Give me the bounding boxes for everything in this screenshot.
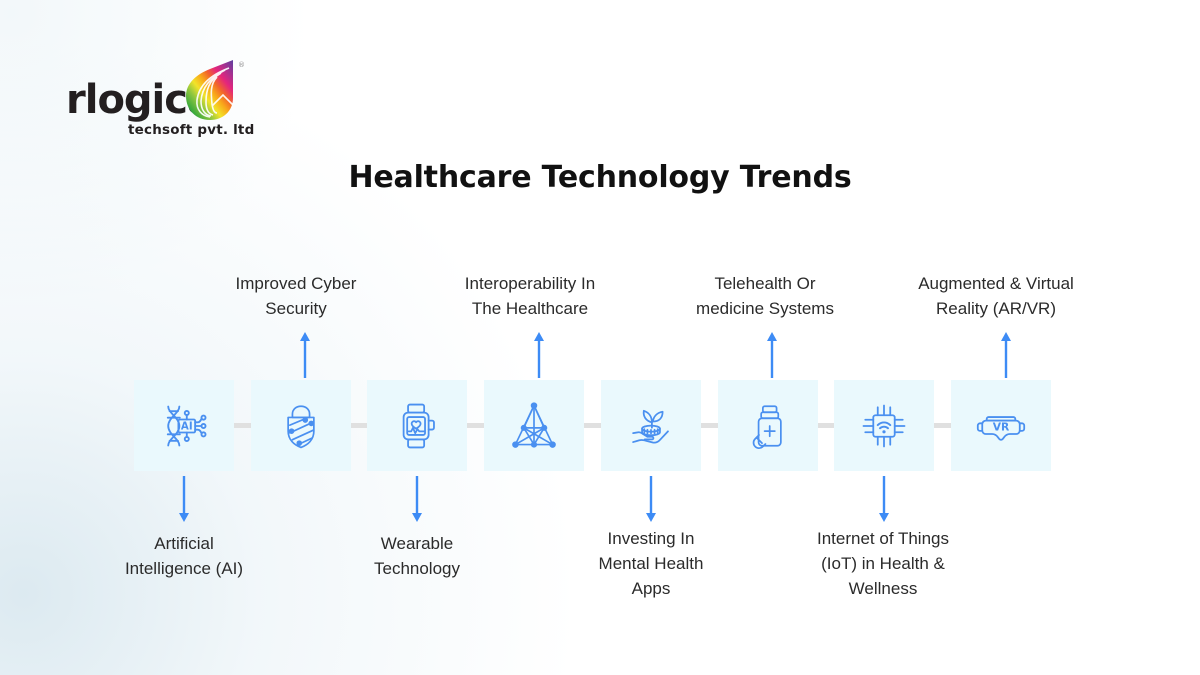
cyber-security-shield-icon — [277, 402, 325, 450]
iot-chip-wifi-icon — [859, 401, 909, 451]
arrow-up-6 — [765, 332, 779, 378]
trend-tile-2[interactable] — [251, 380, 351, 471]
tile-connector-4 — [584, 423, 601, 428]
trend-label-4: Interoperability In The Healthcare — [420, 271, 640, 321]
trend-tile-7[interactable] — [834, 380, 934, 471]
tile-connector-3 — [467, 423, 484, 428]
trend-tile-5[interactable] — [601, 380, 701, 471]
trend-label-5: Investing In Mental Health Apps — [541, 526, 761, 601]
tile-connector-6 — [818, 423, 835, 428]
tile-connector-2 — [351, 423, 368, 428]
trend-timeline-strip: AI — [134, 380, 1045, 471]
arrow-up-8 — [999, 332, 1013, 378]
medicine-bottle-capsule-icon — [744, 402, 792, 450]
trend-tile-8[interactable]: VR — [951, 380, 1051, 471]
trend-label-7: Internet of Things (IoT) in Health & Wel… — [773, 526, 993, 601]
hand-coins-plant-icon — [626, 401, 676, 451]
smartwatch-heartrate-icon — [392, 401, 442, 451]
trend-tile-1[interactable]: AI — [134, 380, 234, 471]
trend-label-8: Augmented & Virtual Reality (AR/VR) — [888, 271, 1104, 321]
svg-text:AI: AI — [181, 421, 193, 432]
network-mesh-nodes-icon — [508, 400, 560, 452]
trend-label-2: Improved Cyber Security — [186, 271, 406, 321]
infographic-canvas: rlogical techsoft pvt. ltd — [0, 0, 1200, 675]
svg-text:VR: VR — [993, 420, 1010, 433]
arrow-down-5 — [644, 476, 658, 522]
trend-label-6: Telehealth Or medicine Systems — [655, 271, 875, 321]
page-title: Healthcare Technology Trends — [0, 160, 1200, 195]
vr-headset-icon: VR — [976, 401, 1026, 451]
ai-dna-chip-icon: AI — [158, 400, 210, 452]
trend-tile-4[interactable] — [484, 380, 584, 471]
arrow-down-3 — [410, 476, 424, 522]
arrow-down-7 — [877, 476, 891, 522]
tile-connector-1 — [234, 423, 251, 428]
arrow-down-1 — [177, 476, 191, 522]
registered-mark: ® — [238, 61, 245, 69]
rlogical-leaf-logo-icon — [179, 58, 241, 122]
trend-tile-6[interactable] — [718, 380, 818, 471]
brand-tagline: techsoft pvt. ltd — [128, 124, 254, 138]
trend-label-1: Artificial Intelligence (AI) — [74, 531, 294, 581]
trend-label-3: Wearable Technology — [307, 531, 527, 581]
tile-connector-5 — [701, 423, 718, 428]
arrow-up-2 — [298, 332, 312, 378]
arrow-up-4 — [532, 332, 546, 378]
trend-tile-3[interactable] — [367, 380, 467, 471]
brand-logo: rlogical techsoft pvt. ltd — [66, 58, 256, 150]
tile-connector-7 — [934, 423, 951, 428]
